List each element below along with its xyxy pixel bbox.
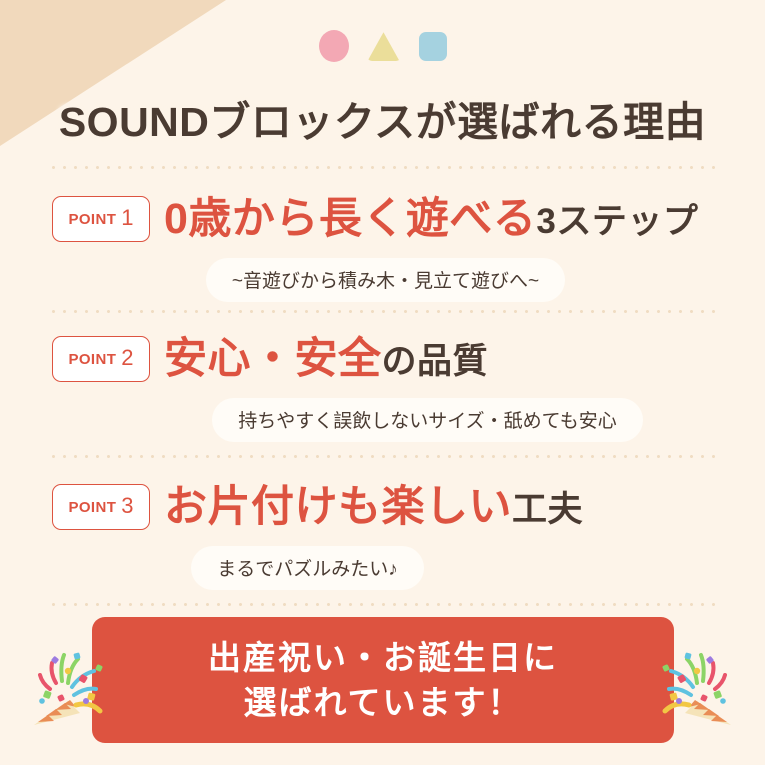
point-title-3: お片付けも楽しい工夫 [164,486,583,529]
page-title: SOUNDブロックスが選ばれる理由 [0,88,765,148]
point-title-dark-2: の品質 [382,342,489,381]
point-title-red-3: お片付けも楽しい [164,483,512,531]
point-block-1: POINT 1 0歳から長く遊べる3ステップ ~音遊びから積み木・見立て遊びへ~ [0,190,765,302]
point-badge-number-1: 1 [121,207,133,229]
square-shape-icon [419,32,447,61]
point-badge-number-2: 2 [121,347,133,369]
point-title-dark-1: 3ステップ [536,202,698,241]
divider-bottom [48,603,718,606]
promo-page: SOUNDブロックスが選ばれる理由 POINT 1 0歳から長く遊べる3ステップ… [0,0,765,765]
point-badge-1: POINT 1 [52,196,150,242]
circle-shape-icon [319,30,349,62]
page-title-brand: SOUNDブロックスが [59,99,457,145]
point-badge-3: POINT 3 [52,484,150,530]
point-subtitle-wrap-3: まるでパズルみたい♪ [0,546,765,590]
point-badge-number-3: 3 [121,495,133,517]
point-title-1: 0歳から長く遊べる3ステップ [164,198,698,241]
party-popper-icon-left [28,635,124,731]
point-headline-3: POINT 3 お片付けも楽しい工夫 [0,478,765,536]
point-badge-label-3: POINT [68,499,116,516]
divider-between-1-2 [48,310,718,313]
point-subtitle-wrap-2: 持ちやすく誤飲しないサイズ・舐めても安心 [0,398,765,442]
shape-decoration-row [0,30,765,62]
divider-between-2-3 [48,455,718,458]
bottom-banner-area: 出産祝い・お誕生日に 選ばれています！ [0,617,765,747]
divider-top [48,166,718,169]
bottom-banner: 出産祝い・お誕生日に 選ばれています！ [92,617,674,743]
point-title-2: 安心・安全の品質 [164,338,488,381]
point-block-3: POINT 3 お片付けも楽しい工夫 まるでパズルみたい♪ [0,478,765,590]
party-popper-icon-right [641,635,737,731]
point-subtitle-1: ~音遊びから積み木・見立て遊びへ~ [206,258,565,302]
point-subtitle-2: 持ちやすく誤飲しないサイズ・舐めても安心 [212,398,642,442]
point-subtitle-3: まるでパズルみたい♪ [191,546,424,590]
point-title-red-1: 0歳から長く遊べる [164,195,536,243]
point-title-red-2: 安心・安全 [164,335,382,383]
point-badge-label-2: POINT [68,351,116,368]
point-badge-2: POINT 2 [52,336,150,382]
banner-line-1: 出産祝い・お誕生日に [208,637,558,678]
point-headline-2: POINT 2 安心・安全の品質 [0,330,765,388]
point-title-dark-3: 工夫 [512,490,583,529]
point-block-2: POINT 2 安心・安全の品質 持ちやすく誤飲しないサイズ・舐めても安心 [0,330,765,442]
page-title-emphasis: 選ばれる理由 [457,99,706,145]
point-headline-1: POINT 1 0歳から長く遊べる3ステップ [0,190,765,248]
banner-line-2: 選ばれています！ [243,682,522,723]
point-badge-label-1: POINT [68,211,116,228]
triangle-shape-icon [367,31,401,61]
point-subtitle-wrap-1: ~音遊びから積み木・見立て遊びへ~ [0,258,765,302]
